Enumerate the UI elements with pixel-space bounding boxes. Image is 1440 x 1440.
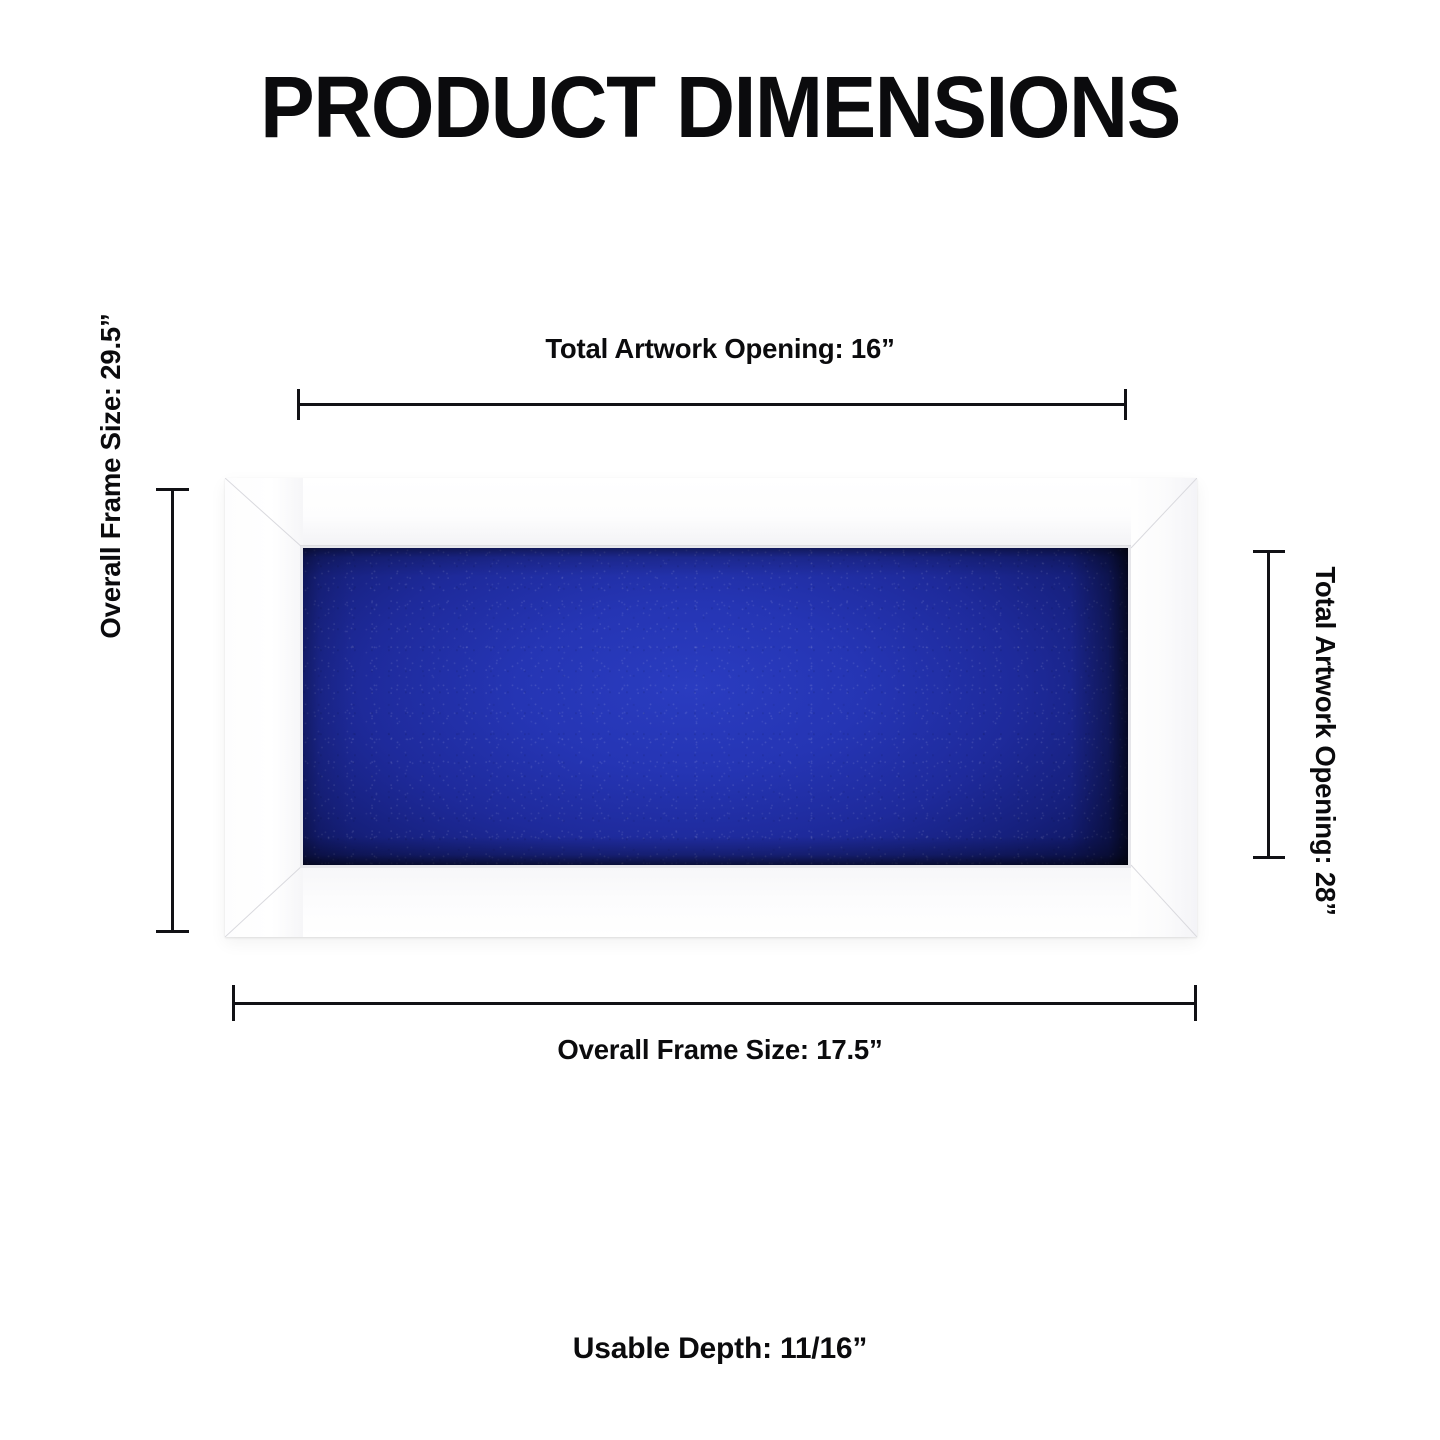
shadowbox-frame-photo xyxy=(225,478,1197,937)
dimension-line-left xyxy=(171,489,174,933)
dimension-tick-bottom-left xyxy=(232,985,235,1021)
dimension-label-left-overall-frame-size: Overall Frame Size: 29.5” xyxy=(95,241,129,711)
shadowbox-depth-shadow xyxy=(303,548,1128,865)
dimension-tick-left-top xyxy=(156,488,189,491)
dimension-tick-top-right xyxy=(1124,389,1127,420)
frame-moulding xyxy=(225,478,1197,937)
page-title: PRODUCT DIMENSIONS xyxy=(43,62,1397,153)
dimension-tick-bottom-right xyxy=(1194,985,1197,1021)
frame-rail-right xyxy=(1131,478,1197,937)
dimension-tick-left-bottom xyxy=(156,930,189,933)
dimension-label-top-artwork-opening: Total Artwork Opening: 16” xyxy=(0,333,1440,365)
dimension-line-right xyxy=(1267,551,1270,859)
dimension-line-top xyxy=(298,403,1127,406)
dimension-label-right-artwork-opening: Total Artwork Opening: 28” xyxy=(1307,461,1341,1021)
dimension-line-bottom xyxy=(233,1002,1197,1005)
dimension-tick-right-top xyxy=(1253,550,1285,553)
frame-rail-top xyxy=(225,478,1197,548)
artwork-opening-interior xyxy=(303,548,1128,865)
dimension-tick-top-left xyxy=(297,389,300,420)
dimension-label-usable-depth: Usable Depth: 11/16” xyxy=(0,1332,1440,1366)
frame-rail-left xyxy=(225,478,303,937)
frame-rail-bottom xyxy=(225,868,1197,937)
dimension-label-bottom-overall-frame-size: Overall Frame Size: 17.5” xyxy=(0,1034,1440,1066)
dimension-tick-right-bottom xyxy=(1253,856,1285,859)
product-dimensions-diagram: PRODUCT DIMENSIONS Total Artwork Opening… xyxy=(0,0,1440,1440)
